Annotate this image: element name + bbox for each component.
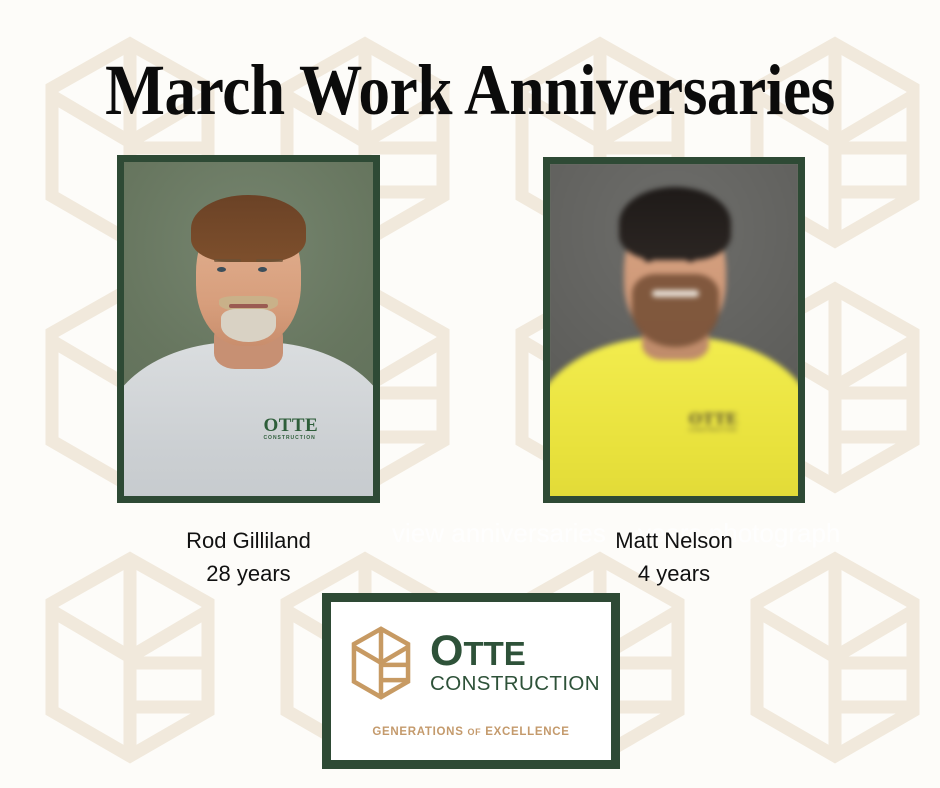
tagline-of: OF [467,727,481,737]
page-title: March Work Anniversaries [56,54,883,126]
employee-photo-rod-gilliland: OTTE CONSTRUCTION [117,155,380,503]
mouth-shape [652,290,699,297]
logo-name-initial: O [430,627,463,675]
shirt-logo-subword: CONSTRUCTION [689,428,738,433]
poster-canvas: March Work Anniversaries view anniversar… [0,0,940,788]
shirt-logo-subword: CONSTRUCTION [263,436,318,441]
shirt-logo-word: OTTE [689,409,738,428]
company-logo-card: OTTE CONSTRUCTION GENERATIONS OF EXCELLE… [322,593,620,769]
honoree-name: Rod Gilliland [117,524,380,557]
shirt-logo-otte: OTTE CONSTRUCTION [263,416,318,441]
employee-photo-matt-nelson: OTTE CONSTRUCTION [543,157,805,503]
shirt-logo-word: OTTE [263,415,318,436]
tagline-part1: GENERATIONS [372,726,463,738]
eyebrow-left [214,259,241,262]
hair-shape [619,187,731,260]
logo-subtitle: CONSTRUCTION [430,673,600,695]
honoree-caption-left: Rod Gilliland 28 years [117,524,380,590]
beard-shape [632,274,719,347]
company-logo-card-inner: OTTE CONSTRUCTION GENERATIONS OF EXCELLE… [337,608,605,754]
honoree-name: Matt Nelson [543,524,805,557]
honoree-years: 4 years [543,557,805,590]
hair-shape [191,195,306,262]
honoree-years: 28 years [117,557,380,590]
photo-inner-right: OTTE CONSTRUCTION [550,164,798,496]
otte-cube-icon [342,624,420,702]
honoree-caption-right: Matt Nelson 4 years [543,524,805,590]
tagline-part2: EXCELLENCE [485,726,569,738]
logo-row: OTTE CONSTRUCTION [337,624,605,702]
mouth-shape [229,304,269,308]
eyebrow-right [256,259,283,262]
logo-wordmark: OTTE CONSTRUCTION [430,632,600,694]
shirt-shape [550,337,798,496]
logo-name-rest: TTE [463,635,525,672]
logo-tagline: GENERATIONS OF EXCELLENCE [337,726,605,738]
photo-inner-left: OTTE CONSTRUCTION [124,162,373,496]
shirt-logo-otte: OTTE CONSTRUCTION [689,410,738,433]
photo-blur-layer: OTTE CONSTRUCTION [550,164,798,496]
logo-name: OTTE [430,632,526,672]
